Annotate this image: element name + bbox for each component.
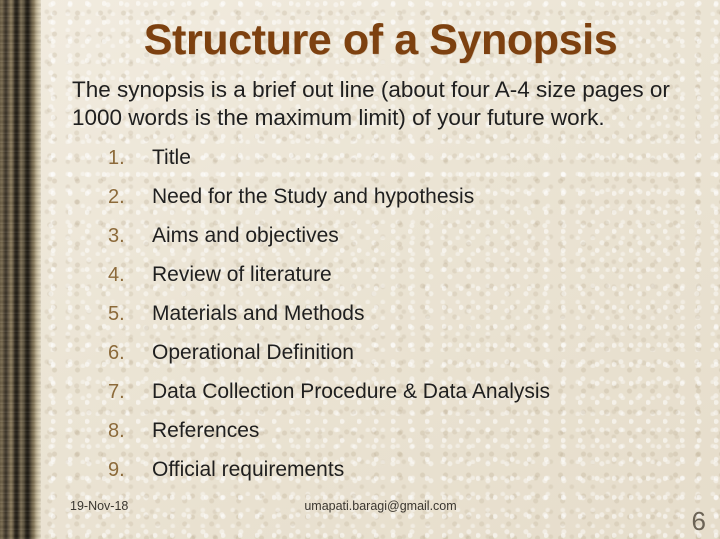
list-item: 3. Aims and objectives [108,224,708,263]
slide-title: Structure of a Synopsis [41,12,720,68]
list-item-number: 5. [108,303,152,326]
list-item-label: Need for the Study and hypothesis [152,185,708,209]
slide-number: 6 [692,506,706,537]
list-item-number: 9. [108,459,152,482]
list-item-number: 4. [108,264,152,287]
list-item: 2. Need for the Study and hypothesis [108,185,708,224]
list-item-label: Title [152,146,708,170]
list-item-number: 1. [108,147,152,170]
list-item-label: References [152,419,708,443]
list-item: 7. Data Collection Procedure & Data Anal… [108,380,708,419]
list-item: 8. References [108,419,708,458]
list-item-number: 7. [108,381,152,404]
list-item-number: 8. [108,420,152,443]
list-item: 1. Title [108,146,708,185]
list-item-number: 2. [108,186,152,209]
list-item: 6. Operational Definition [108,341,708,380]
presentation-slide: Structure of a Synopsis The synopsis is … [0,0,720,539]
list-item-number: 3. [108,225,152,248]
list-item: 9. Official requirements [108,458,708,497]
synopsis-structure-list: 1. Title 2. Need for the Study and hypot… [108,146,708,497]
list-item-label: Data Collection Procedure & Data Analysi… [152,380,708,404]
decorative-left-border [0,0,41,539]
list-item-label: Official requirements [152,458,708,482]
list-item: 5. Materials and Methods [108,302,708,341]
list-item-label: Materials and Methods [152,302,708,326]
list-item-number: 6. [108,342,152,365]
footer-email: umapati.baragi@gmail.com [41,499,720,513]
list-item: 4. Review of literature [108,263,708,302]
intro-paragraph: The synopsis is a brief out line (about … [72,76,696,132]
list-item-label: Review of literature [152,263,708,287]
list-item-label: Aims and objectives [152,224,708,248]
list-item-label: Operational Definition [152,341,708,365]
